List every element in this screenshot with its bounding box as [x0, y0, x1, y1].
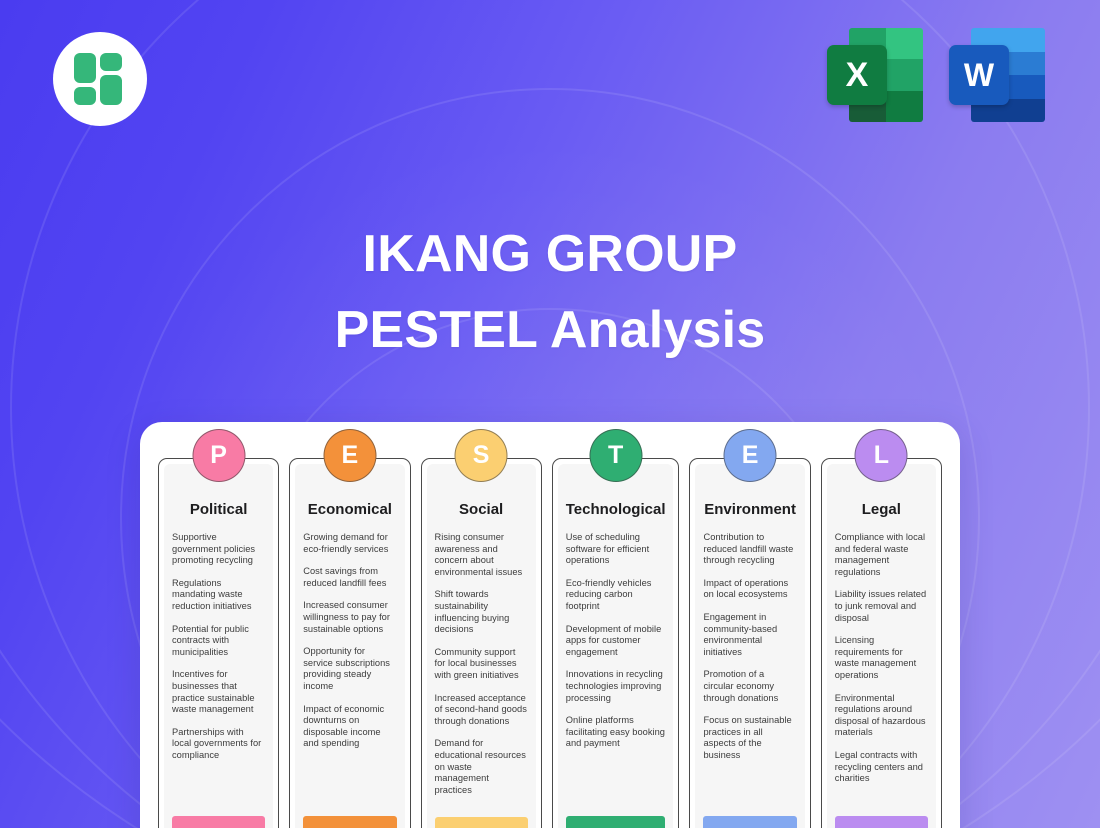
- pestel-column[interactable]: EEnvironmentContribution to reduced land…: [689, 458, 810, 828]
- pestel-item: Online platforms facilitating easy booki…: [566, 715, 666, 750]
- pestel-letter-badge: S: [455, 429, 508, 482]
- title-line-1: IKANG GROUP: [0, 216, 1100, 292]
- pestel-item: Growing demand for eco-friendly services: [303, 532, 396, 555]
- pestel-item: Liability issues related to junk removal…: [835, 589, 928, 624]
- pestel-item: Demand for educational resources on wast…: [435, 738, 528, 796]
- spacer: [566, 761, 666, 810]
- pestel-panel: PPoliticalSupportive government policies…: [140, 422, 960, 828]
- pestel-letter-badge: E: [724, 429, 777, 482]
- pestel-color-bar: [303, 816, 396, 828]
- pestel-color-bar: [835, 816, 928, 828]
- office-export-icons: X W: [827, 28, 1045, 122]
- pestel-column-body: TechnologicalUse of scheduling software …: [558, 464, 674, 828]
- pestel-item: Cost savings from reduced landfill fees: [303, 566, 396, 589]
- spacer: [835, 796, 928, 810]
- title-line-2: PESTEL Analysis: [0, 292, 1100, 368]
- pestel-item: Contribution to reduced landfill waste t…: [703, 532, 796, 567]
- pestel-item-list: Contribution to reduced landfill waste t…: [703, 532, 796, 816]
- pestel-color-bar: [703, 816, 796, 828]
- pestel-item: Environmental regulations around disposa…: [835, 693, 928, 739]
- pestel-item: Opportunity for service subscriptions pr…: [303, 646, 396, 692]
- pestel-column-body: LegalCompliance with local and federal w…: [827, 464, 936, 828]
- pestel-item-list: Supportive government policies promoting…: [172, 532, 265, 816]
- pestel-item: Development of mobile apps for customer …: [566, 624, 666, 659]
- pestel-item-list: Rising consumer awareness and concern ab…: [435, 532, 528, 817]
- pestel-letter-badge: L: [855, 429, 908, 482]
- word-icon[interactable]: W: [949, 28, 1045, 122]
- pestel-item: Community support for local businesses w…: [435, 647, 528, 682]
- pestel-columns: PPoliticalSupportive government policies…: [158, 458, 942, 828]
- spacer: [303, 761, 396, 810]
- pestel-column[interactable]: SSocialRising consumer awareness and con…: [421, 458, 542, 828]
- pestel-item: Engagement in community-based environmen…: [703, 612, 796, 658]
- pestel-item: Legal contracts with recycling centers a…: [835, 750, 928, 785]
- grid-dashboard-icon: [74, 53, 126, 105]
- pestel-column-body: SocialRising consumer awareness and conc…: [427, 464, 536, 828]
- pestel-color-bar: [435, 817, 528, 828]
- pestel-item: Impact of operations on local ecosystems: [703, 578, 796, 601]
- pestel-letter-badge: P: [192, 429, 245, 482]
- spacer: [172, 773, 265, 811]
- pestel-column[interactable]: EEconomicalGrowing demand for eco-friend…: [289, 458, 410, 828]
- spacer: [703, 773, 796, 811]
- pestel-letter-badge: T: [589, 429, 642, 482]
- pestel-item: Use of scheduling software for efficient…: [566, 532, 666, 567]
- pestel-column[interactable]: PPoliticalSupportive government policies…: [158, 458, 279, 828]
- brand-logo: [53, 32, 147, 126]
- page-title: IKANG GROUP PESTEL Analysis: [0, 216, 1100, 368]
- pestel-item: Promotion of a circular economy through …: [703, 669, 796, 704]
- pestel-item: Supportive government policies promoting…: [172, 532, 265, 567]
- pestel-item: Impact of economic downturns on disposab…: [303, 704, 396, 750]
- presentation-slide: X W IKANG GROUP PESTEL Analysis PPolitic…: [0, 0, 1100, 828]
- pestel-item: Shift towards sustainability influencing…: [435, 589, 528, 635]
- pestel-item: Compliance with local and federal waste …: [835, 532, 928, 578]
- spacer: [435, 807, 528, 811]
- pestel-item-list: Compliance with local and federal waste …: [835, 532, 928, 816]
- pestel-letter-badge: E: [323, 429, 376, 482]
- pestel-color-bar: [566, 816, 666, 828]
- pestel-item: Potential for public contracts with muni…: [172, 624, 265, 659]
- pestel-item-list: Growing demand for eco-friendly services…: [303, 532, 396, 816]
- pestel-item: Regulations mandating waste reduction in…: [172, 578, 265, 613]
- pestel-column[interactable]: TTechnologicalUse of scheduling software…: [552, 458, 680, 828]
- pestel-column-body: EconomicalGrowing demand for eco-friendl…: [295, 464, 404, 828]
- pestel-item: Incentives for businesses that practice …: [172, 669, 265, 715]
- pestel-column-body: EnvironmentContribution to reduced landf…: [695, 464, 804, 828]
- pestel-column-body: PoliticalSupportive government policies …: [164, 464, 273, 828]
- pestel-item-list: Use of scheduling software for efficient…: [566, 532, 666, 816]
- word-letter: W: [949, 45, 1009, 105]
- pestel-color-bar: [172, 816, 265, 828]
- pestel-column[interactable]: LLegalCompliance with local and federal …: [821, 458, 942, 828]
- pestel-item: Increased consumer willingness to pay fo…: [303, 600, 396, 635]
- pestel-item: Eco-friendly vehicles reducing carbon fo…: [566, 578, 666, 613]
- pestel-item: Licensing requirements for waste managem…: [835, 635, 928, 681]
- pestel-item: Innovations in recycling technologies im…: [566, 669, 666, 704]
- excel-letter: X: [827, 45, 887, 105]
- pestel-item: Rising consumer awareness and concern ab…: [435, 532, 528, 578]
- pestel-item: Increased acceptance of second-hand good…: [435, 693, 528, 728]
- pestel-item: Partnerships with local governments for …: [172, 727, 265, 762]
- excel-icon[interactable]: X: [827, 28, 923, 122]
- pestel-item: Focus on sustainable practices in all as…: [703, 715, 796, 761]
